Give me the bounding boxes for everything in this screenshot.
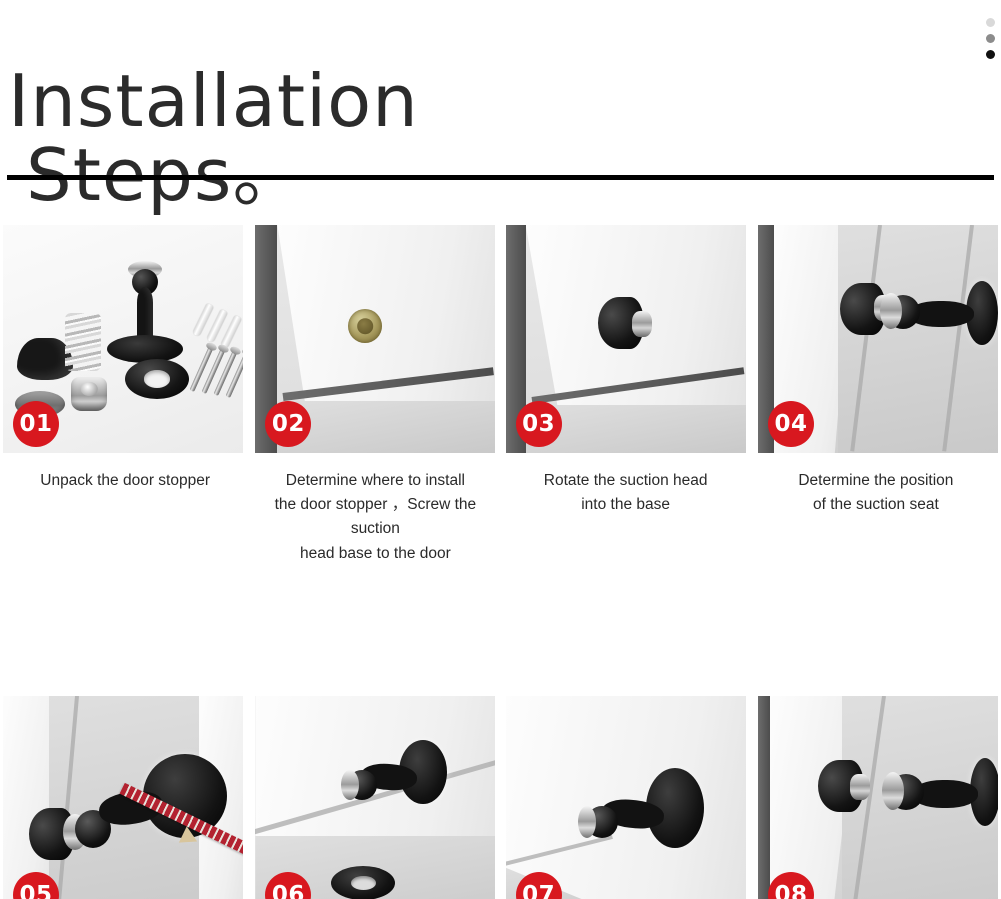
step-card-04: 04 Determine the position of the suction… (751, 225, 1001, 566)
door-panel (3, 696, 49, 899)
header-divider (7, 175, 994, 180)
installation-steps-page: Installation Steps。 (0, 0, 1001, 899)
suction-seat-chrome-collar (882, 772, 904, 810)
cover-ring-part (125, 359, 189, 399)
suction-head-assembly-part (103, 261, 187, 357)
step-photo-03: 03 (506, 225, 746, 453)
step-card-05: 05 Position the suction head and suction… (0, 696, 250, 899)
step-card-01: 01 Unpack the door stopper (0, 225, 250, 566)
pager-dot-3-icon[interactable] (986, 50, 995, 59)
step-photo-01: 01 (3, 225, 243, 453)
door-frame-shadow (758, 696, 770, 899)
scene-seat-with-cover-plate (506, 696, 746, 899)
chrome-nut-part (71, 377, 107, 411)
step-photo-08: 08 (758, 696, 998, 899)
chrome-tip (850, 774, 870, 800)
step-photo-04: 04 (758, 225, 998, 453)
steps-row-bottom: 05 Position the suction head and suction… (0, 696, 1001, 899)
step-badge-03: 03 (516, 401, 562, 447)
step-badge-01: 01 (13, 401, 59, 447)
steps-row-top: 01 Unpack the door stopper 02 Determin (0, 225, 1001, 566)
wall-panel (506, 696, 746, 899)
pager-dot-1-icon[interactable] (986, 18, 995, 27)
scene-finished-installation (758, 696, 998, 899)
step-card-07: 07 Rotate the decorated cover plate to t… (501, 696, 751, 899)
spring-part (65, 313, 101, 371)
suction-seat-chrome-collar (880, 293, 902, 329)
suction-seat-chrome-collar (578, 806, 596, 838)
scene-seat-screwed-cover-ring-off (255, 696, 495, 899)
step-photo-06: 06 (255, 696, 495, 899)
pager-dots (986, 18, 995, 59)
step-badge-04: 04 (768, 401, 814, 447)
step-caption-02: Determine where to install the door stop… (250, 469, 500, 566)
step-caption-03: Rotate the suction head into the base (501, 469, 751, 517)
step-caption-01: Unpack the door stopper (0, 469, 250, 493)
step-card-03: 03 Rotate the suction head into the base (501, 225, 751, 566)
chrome-tip (632, 311, 652, 337)
steps-grid: 01 Unpack the door stopper 02 Determin (0, 225, 1001, 899)
step-photo-05: 05 (3, 696, 243, 899)
step-photo-02: 02 (255, 225, 495, 453)
scene-marking-with-pencil (3, 696, 243, 899)
mount-flange-part (107, 335, 183, 363)
page-title-line-1: Installation (8, 59, 419, 143)
step-card-06: 06 Fix the suction seat with screws on t… (250, 696, 500, 899)
page-header: Installation Steps。 (0, 0, 1001, 180)
step-photo-07: 07 (506, 696, 746, 899)
step-card-02: 02 Determine where to install the door s… (250, 225, 500, 566)
step-caption-04: Determine the position of the suction se… (751, 469, 1001, 517)
pager-dot-2-icon[interactable] (986, 34, 995, 43)
step-card-08: 08 Alright, you're done! (751, 696, 1001, 899)
decorative-cover-ring (331, 866, 395, 899)
